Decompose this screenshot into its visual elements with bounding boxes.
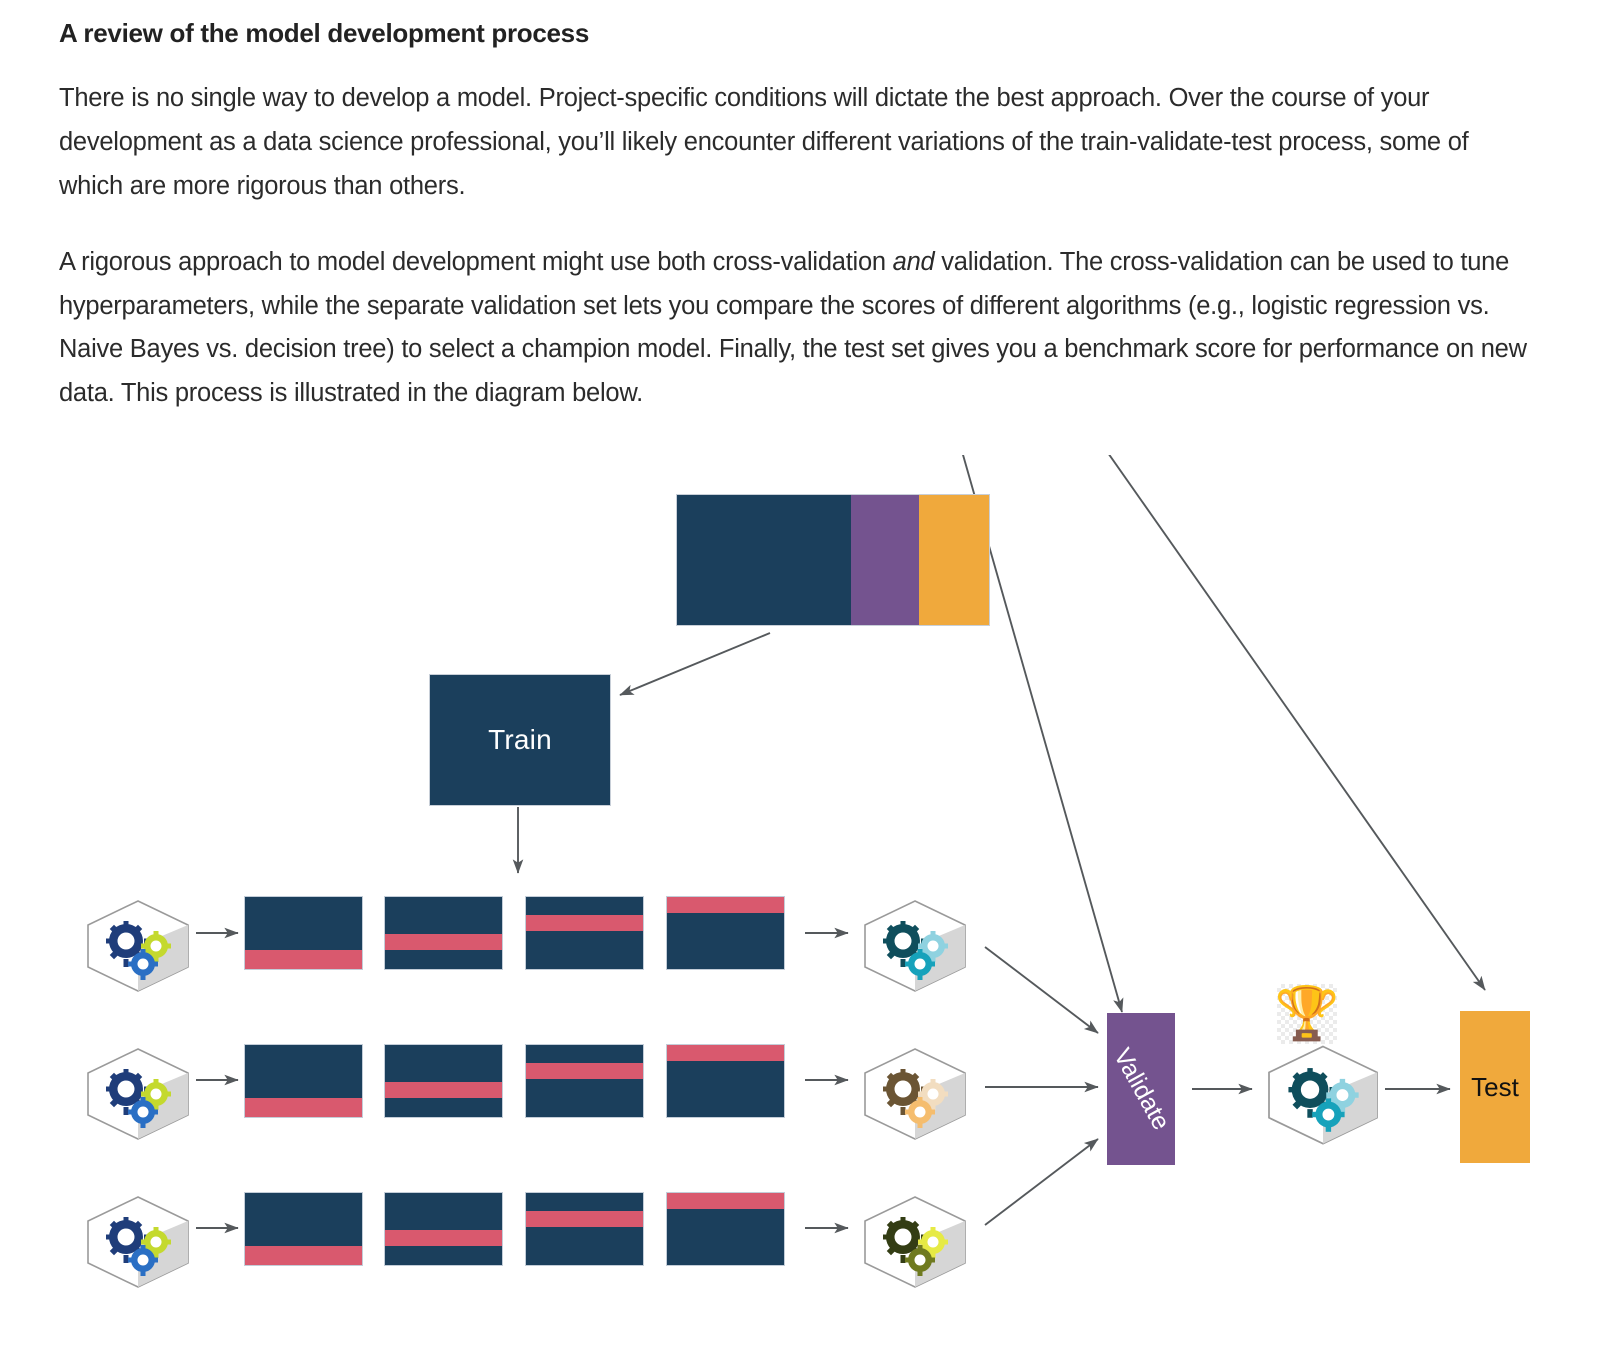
row2-model-gears-icon [78, 1043, 198, 1148]
model-development-diagram: Train [0, 455, 1604, 1345]
row1-trained-model-gears-icon [855, 895, 975, 1000]
row1-fold-4 [667, 897, 784, 969]
row1-fold-2 [385, 897, 502, 969]
page-title: A review of the model development proces… [59, 18, 1539, 49]
arrow-dataset-to-test [915, 455, 1485, 990]
dataset-segment-train [677, 495, 851, 625]
test-box-label: Test [1471, 1072, 1519, 1103]
dataset-segment-test [919, 495, 989, 625]
arrow-model3-to-validate [985, 1139, 1098, 1225]
holdout-stripe [385, 1230, 502, 1246]
holdout-stripe [667, 897, 784, 913]
full-dataset-bar [677, 495, 989, 625]
trophy-icon: 🏆 [1277, 984, 1337, 1044]
validate-box-label: Validate [1107, 1043, 1175, 1134]
holdout-stripe [667, 1193, 784, 1209]
row1-fold-1 [245, 897, 362, 969]
row3-fold-1 [245, 1193, 362, 1265]
train-box-label: Train [488, 724, 552, 756]
paragraph-rigorous: A rigorous approach to model development… [59, 241, 1539, 416]
paragraph-rigorous-part1: A rigorous approach to model development… [59, 248, 893, 276]
row3-fold-4 [667, 1193, 784, 1265]
article-text: A review of the model development proces… [59, 18, 1539, 448]
holdout-stripe [526, 915, 643, 931]
validate-box-label-wrap: Validate [1107, 1013, 1175, 1165]
holdout-stripe [385, 934, 502, 950]
champion-model-gears-icon [1258, 1040, 1388, 1153]
holdout-stripe [526, 1063, 643, 1079]
holdout-stripe [245, 1098, 362, 1117]
row2-fold-3 [526, 1045, 643, 1117]
paragraph-rigorous-emphasis: and [893, 248, 935, 276]
arrow-model1-to-validate [985, 947, 1098, 1033]
train-box: Train [430, 675, 610, 805]
validate-box: Validate [1107, 1013, 1175, 1165]
dataset-segment-validate [851, 495, 919, 625]
holdout-stripe [245, 950, 362, 969]
row1-fold-3 [526, 897, 643, 969]
row1-model-gears-icon [78, 895, 198, 1000]
arrow-dataset-to-train [620, 633, 770, 695]
row2-trained-model-gears-icon [855, 1043, 975, 1148]
row2-fold-1 [245, 1045, 362, 1117]
row3-model-gears-icon [78, 1191, 198, 1296]
holdout-stripe [385, 1082, 502, 1098]
row3-trained-model-gears-icon [855, 1191, 975, 1296]
row3-fold-3 [526, 1193, 643, 1265]
paragraph-intro: There is no single way to develop a mode… [59, 77, 1539, 209]
holdout-stripe [667, 1045, 784, 1061]
test-box: Test [1460, 1011, 1530, 1163]
holdout-stripe [526, 1211, 643, 1227]
row2-fold-2 [385, 1045, 502, 1117]
trophy-glyph: 🏆 [1277, 984, 1337, 1044]
holdout-stripe [245, 1246, 362, 1265]
row3-fold-2 [385, 1193, 502, 1265]
row2-fold-4 [667, 1045, 784, 1117]
